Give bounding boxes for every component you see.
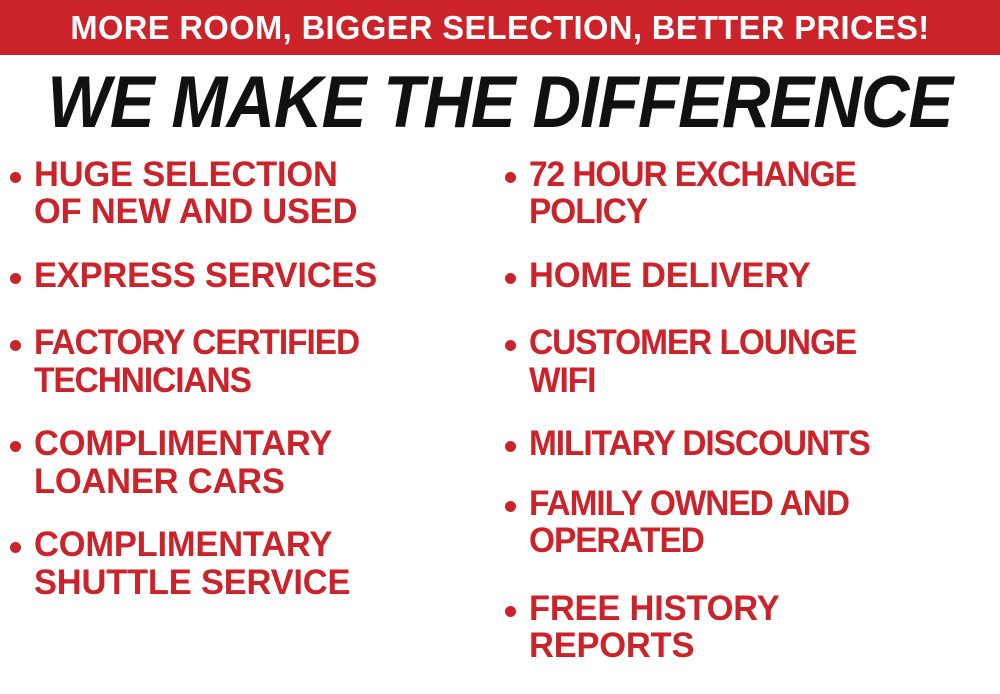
list-item: MILITARY DISCOUNTS: [505, 425, 1000, 462]
bullet-dot-icon: [505, 340, 516, 351]
list-item: HOME DELIVERY: [505, 257, 1000, 294]
bullet-dot-icon: [10, 172, 21, 183]
list-item-label: COMPLIMENTARY LOANER CARS: [34, 425, 493, 500]
list-item-label: MILITARY DISCOUNTS: [529, 425, 979, 462]
feature-columns: HUGE SELECTION OF NEW AND USED EXPRESS S…: [0, 156, 1000, 694]
poster-root: MORE ROOM, BIGGER SELECTION, BETTER PRIC…: [0, 0, 1000, 694]
list-item: HUGE SELECTION OF NEW AND USED: [10, 156, 500, 231]
list-item: FACTORY CERTIFIED TECHNICIANS: [10, 324, 500, 399]
list-item: COMPLIMENTARY SHUTTLE SERVICE: [10, 526, 500, 601]
list-item: FAMILY OWNED AND OPERATED: [505, 485, 1000, 560]
top-banner: MORE ROOM, BIGGER SELECTION, BETTER PRIC…: [0, 0, 1000, 55]
bullet-dot-icon: [10, 273, 21, 284]
bullet-dot-icon: [505, 172, 516, 183]
list-item-label: HUGE SELECTION OF NEW AND USED: [34, 156, 493, 231]
bullet-dot-icon: [505, 441, 516, 452]
list-item: EXPRESS SERVICES: [10, 257, 500, 294]
banner-headline-text: MORE ROOM, BIGGER SELECTION, BETTER PRIC…: [70, 11, 929, 44]
feature-column-left: HUGE SELECTION OF NEW AND USED EXPRESS S…: [10, 156, 500, 694]
list-item: FREE HISTORY REPORTS: [505, 590, 1000, 665]
bullet-dot-icon: [10, 542, 21, 553]
bullet-dot-icon: [505, 501, 516, 512]
list-item: COMPLIMENTARY LOANER CARS: [10, 425, 500, 500]
bullet-dot-icon: [10, 340, 21, 351]
list-item-label: FAMILY OWNED AND OPERATED: [529, 485, 979, 560]
list-item: 72 HOUR EXCHANGE POLICY: [505, 156, 1000, 231]
list-item-label: HOME DELIVERY: [529, 257, 993, 294]
list-item-label: COMPLIMENTARY SHUTTLE SERVICE: [34, 526, 493, 601]
list-item-label: FACTORY CERTIFIED TECHNICIANS: [34, 324, 479, 399]
list-item-label: EXPRESS SERVICES: [34, 257, 493, 294]
list-item-label: CUSTOMER LOUNGE WIFI: [529, 324, 979, 399]
page-title: WE MAKE THE DIFFERENCE: [0, 66, 1000, 139]
bullet-dot-icon: [505, 273, 516, 284]
list-item-label: FREE HISTORY REPORTS: [529, 590, 993, 665]
bullet-dot-icon: [10, 441, 21, 452]
bullet-dot-icon: [505, 606, 516, 617]
feature-column-right: 72 HOUR EXCHANGE POLICY HOME DELIVERY CU…: [505, 156, 1000, 694]
list-item: CUSTOMER LOUNGE WIFI: [505, 324, 1000, 399]
list-item-label: 72 HOUR EXCHANGE POLICY: [529, 156, 979, 231]
page-title-text: WE MAKE THE DIFFERENCE: [47, 66, 952, 139]
